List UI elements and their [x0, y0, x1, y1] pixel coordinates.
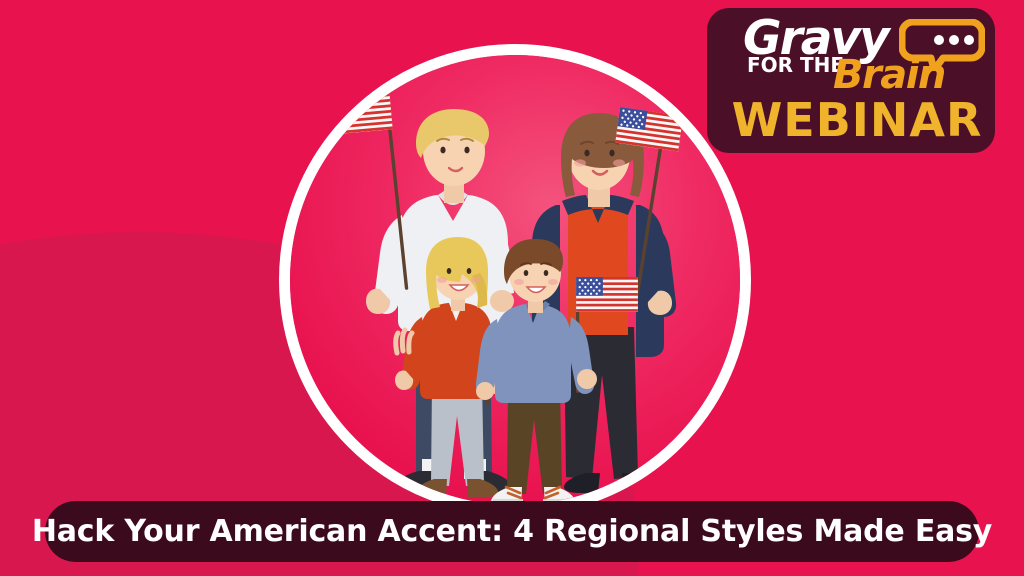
logo-word-for-the: FOR THE: [747, 55, 844, 75]
family-illustration: [290, 55, 740, 505]
circle-frame: [279, 44, 751, 516]
circle-inner-glow: [290, 55, 740, 505]
logo-word-webinar: WEBINAR: [721, 97, 993, 143]
webinar-title: Hack Your American Accent: 4 Regional St…: [32, 514, 992, 549]
logo-wordmark: Gravy FOR THE Brain: [707, 11, 995, 69]
gravy-for-the-brain-webinar-logo: Gravy FOR THE Brain WEBINAR: [707, 8, 995, 153]
webinar-title-bar: Hack Your American Accent: 4 Regional St…: [45, 501, 979, 562]
speech-bubble-icon: [899, 19, 985, 71]
